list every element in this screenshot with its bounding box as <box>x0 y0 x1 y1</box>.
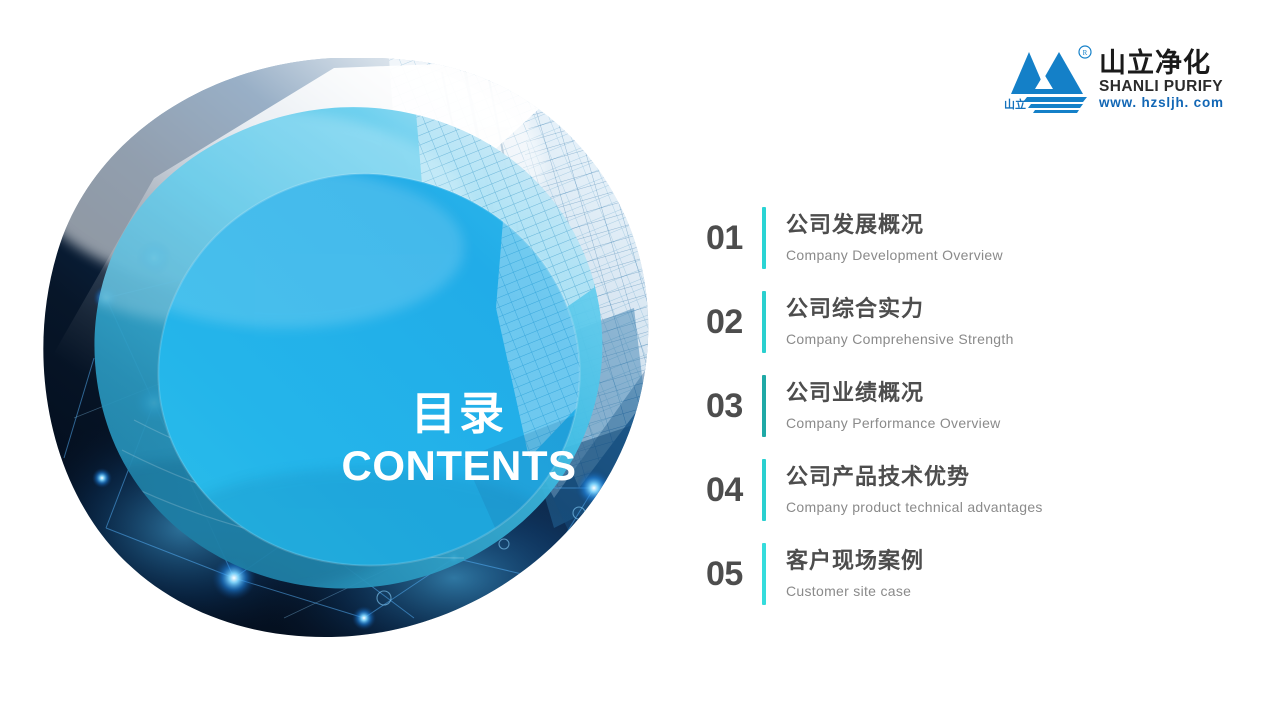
agenda-number: 01 <box>700 219 758 258</box>
presentation-slide: 目录 CONTENTS R 山立 山立净化 SHANLI PURIFY www.… <box>0 0 1280 720</box>
agenda-accent-bar <box>762 543 766 605</box>
agenda-number: 05 <box>700 555 758 594</box>
logo-text-block: 山立净化 SHANLI PURIFY www. hzsljh. com <box>1099 48 1219 111</box>
agenda-title-cn: 公司产品技术优势 <box>786 463 1240 491</box>
agenda-number: 03 <box>700 387 758 426</box>
agenda-accent-bar <box>762 375 766 437</box>
agenda-number: 02 <box>700 303 758 342</box>
svg-text:R: R <box>1083 49 1088 57</box>
agenda-item-03[interactable]: 03 公司业绩概况 Company Performance Overview <box>700 364 1240 448</box>
agenda-title-cn: 公司业绩概况 <box>786 379 1240 407</box>
contents-hero-graphic: 目录 CONTENTS <box>34 58 654 638</box>
brand-name-cn: 山立净化 <box>1099 48 1219 78</box>
agenda-title-en: Company Development Overview <box>786 245 1240 265</box>
agenda-accent-bar <box>762 459 766 521</box>
agenda-item-01[interactable]: 01 公司发展概况 Company Development Overview <box>700 196 1240 280</box>
agenda-item-05[interactable]: 05 客户现场案例 Customer site case <box>700 532 1240 616</box>
brand-website[interactable]: www. hzsljh. com <box>1099 95 1219 111</box>
agenda-text-group: 客户现场案例 Customer site case <box>786 547 1240 601</box>
registered-trademark-icon: R <box>1079 46 1091 58</box>
agenda-title-en: Customer site case <box>786 581 1240 601</box>
agenda-title-cn: 公司综合实力 <box>786 295 1240 323</box>
contents-agenda-list: 01 公司发展概况 Company Development Overview 0… <box>700 196 1240 616</box>
agenda-accent-bar <box>762 207 766 269</box>
agenda-accent-bar <box>762 291 766 353</box>
brand-name-en: SHANLI PURIFY <box>1099 78 1219 95</box>
agenda-text-group: 公司产品技术优势 Company product technical advan… <box>786 463 1240 517</box>
company-logo[interactable]: R 山立 山立净化 SHANLI PURIFY www. hzsljh. com <box>1003 44 1218 116</box>
hero-blob-svg <box>34 58 654 638</box>
agenda-title-cn: 公司发展概况 <box>786 211 1240 239</box>
agenda-title-en: Company Comprehensive Strength <box>786 329 1240 349</box>
agenda-item-04[interactable]: 04 公司产品技术优势 Company product technical ad… <box>700 448 1240 532</box>
agenda-text-group: 公司综合实力 Company Comprehensive Strength <box>786 295 1240 349</box>
logo-mark-caption: 山立 <box>1004 96 1026 112</box>
agenda-number: 04 <box>700 471 758 510</box>
agenda-item-02[interactable]: 02 公司综合实力 Company Comprehensive Strength <box>700 280 1240 364</box>
agenda-text-group: 公司业绩概况 Company Performance Overview <box>786 379 1240 433</box>
agenda-text-group: 公司发展概况 Company Development Overview <box>786 211 1240 265</box>
agenda-title-en: Company product technical advantages <box>786 497 1240 517</box>
agenda-title-cn: 客户现场案例 <box>786 547 1240 575</box>
agenda-title-en: Company Performance Overview <box>786 413 1240 433</box>
